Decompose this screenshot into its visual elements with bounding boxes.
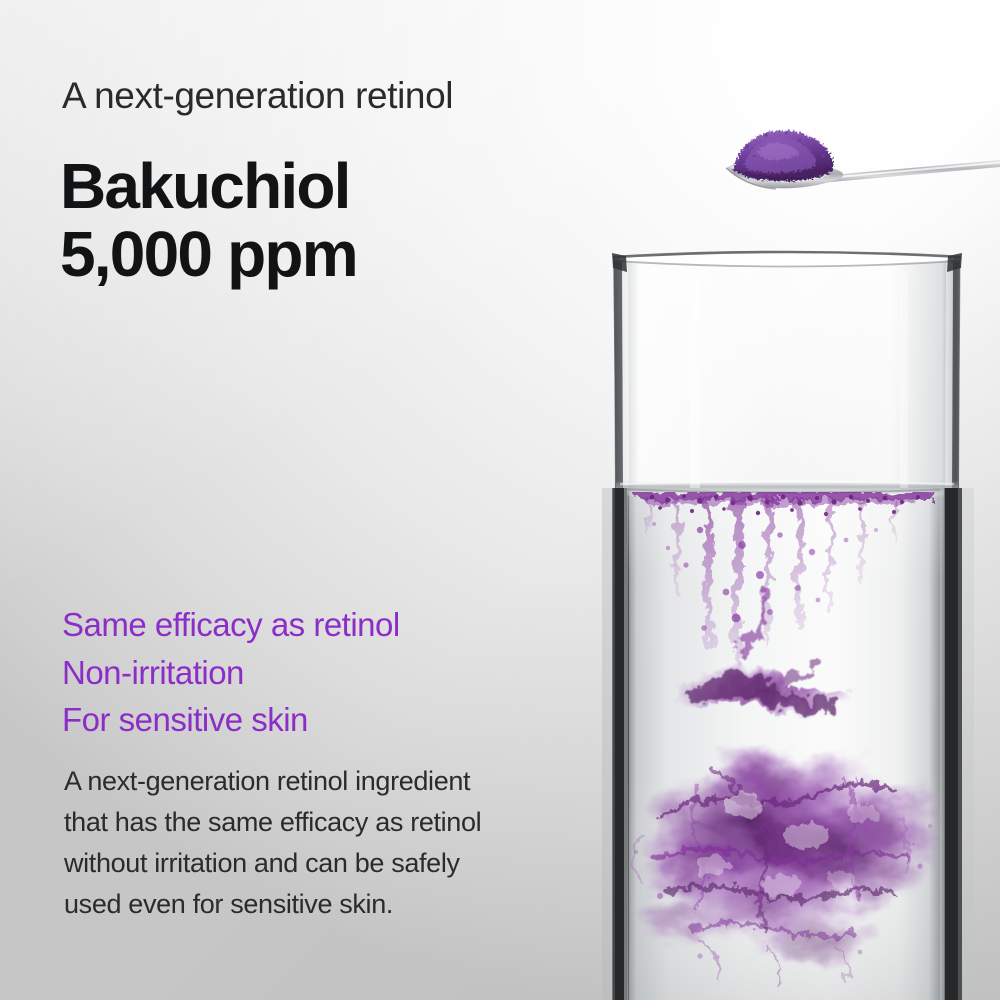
benefit-list: Same efficacy as retinol Non-irritation … (62, 601, 400, 744)
benefit-item-2: Non-irritation (62, 649, 400, 697)
description-line-1: A next-generation retinol ingredient (64, 761, 584, 802)
description-line-2: that has the same efficacy as retinol (64, 802, 584, 843)
purple-powder (733, 131, 834, 182)
glass-group (602, 252, 974, 1000)
description-line-3: without irritation and can be safely (64, 843, 584, 884)
page-title: Bakuchiol 5,000 ppm (60, 152, 357, 289)
headline-line-1: Bakuchiol (60, 150, 350, 222)
benefit-item-3: For sensitive skin (62, 696, 400, 744)
description-paragraph: A next-generation retinol ingredient tha… (64, 761, 584, 925)
infographic-canvas: A next-generation retinol Bakuchiol 5,00… (0, 0, 1000, 1000)
spoon-group (726, 131, 1000, 189)
description-line-4: used even for sensitive skin. (64, 884, 584, 925)
eyebrow-text: A next-generation retinol (62, 76, 453, 117)
benefit-item-1: Same efficacy as retinol (62, 601, 400, 649)
headline-line-2: 5,000 ppm (60, 220, 357, 288)
glass-upper-body (613, 253, 961, 492)
